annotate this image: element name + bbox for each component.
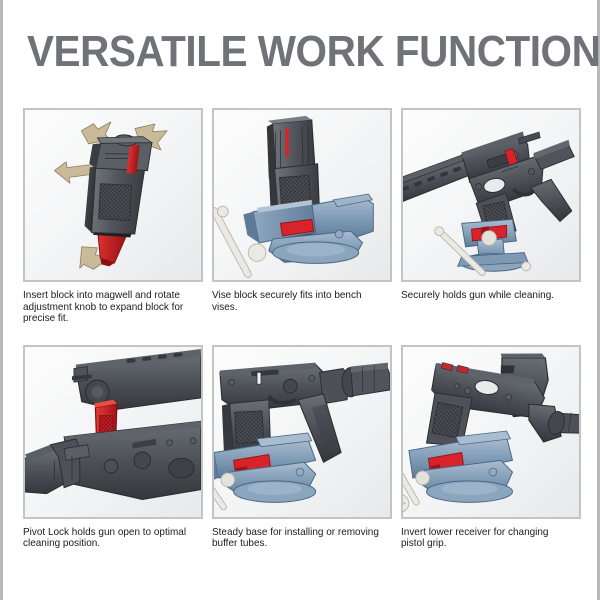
inverted-lower-receiver-grip-change-illustration — [403, 347, 579, 517]
panel-row-bottom: Pivot Lock holds gun open to optimal cle… — [23, 345, 583, 550]
lower-receiver-buffer-tube-install-illustration — [214, 347, 390, 517]
illustration-panel-5 — [212, 345, 392, 519]
panel-caption-3: Securely holds gun while cleaning. — [401, 290, 572, 302]
panel-cell-6: Invert lower receiver for changing pisto… — [401, 345, 581, 550]
vise-block-expanding-in-magwell-illustration — [25, 110, 201, 280]
panel-cell-1: Insert block into magwell and rotate adj… — [23, 108, 203, 325]
panel-caption-5: Steady base for installing or removing b… — [212, 527, 383, 550]
illustration-panel-3 — [401, 108, 581, 282]
poster-page: VERSATILE WORK FUNCTIONS — [0, 0, 600, 600]
full-rifle-mounted-on-vise-illustration — [403, 110, 579, 280]
vise-block-clamped-in-bench-vise-illustration — [214, 110, 390, 280]
panel-cell-4: Pivot Lock holds gun open to optimal cle… — [23, 345, 203, 550]
pivot-lock-holding-receiver-open-illustration — [25, 347, 201, 517]
illustration-panel-1 — [23, 108, 203, 282]
panel-caption-2: Vise block securely fits into bench vise… — [212, 290, 383, 313]
illustration-panel-4 — [23, 345, 203, 519]
illustration-panel-6 — [401, 345, 581, 519]
panel-cell-2: Vise block securely fits into bench vise… — [212, 108, 392, 325]
illustration-panel-2 — [212, 108, 392, 282]
panel-caption-4: Pivot Lock holds gun open to optimal cle… — [23, 527, 194, 550]
page-title: VERSATILE WORK FUNCTIONS — [27, 30, 579, 74]
panel-cell-5: Steady base for installing or removing b… — [212, 345, 392, 550]
panel-caption-6: Invert lower receiver for changing pisto… — [401, 527, 572, 550]
panel-row-top: Insert block into magwell and rotate adj… — [23, 108, 583, 325]
panel-grid: Insert block into magwell and rotate adj… — [23, 108, 583, 550]
panel-caption-1: Insert block into magwell and rotate adj… — [23, 290, 194, 325]
panel-cell-3: Securely holds gun while cleaning. — [401, 108, 581, 325]
